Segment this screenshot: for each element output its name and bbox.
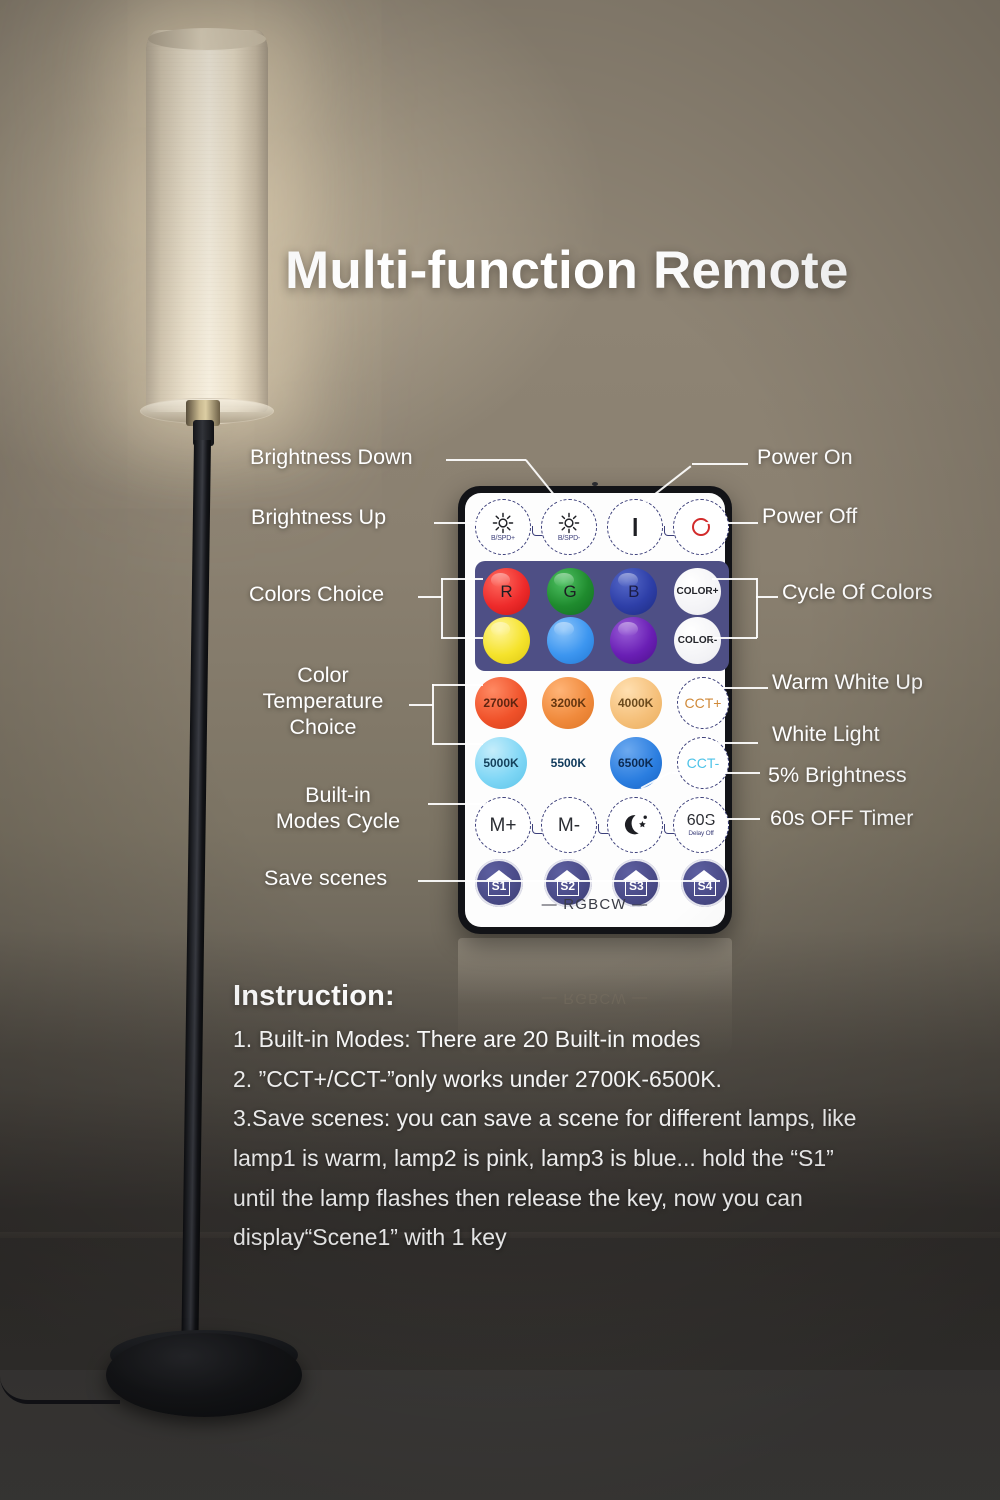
leader-colors-choice-bottom bbox=[441, 637, 483, 639]
remote-control: B/SPD+ B/SPD- bbox=[458, 486, 732, 934]
color-button-red[interactable]: R bbox=[483, 568, 530, 615]
callout-color-temperature-choice: Color Temperature Choice bbox=[238, 663, 408, 740]
leader-color-temp-stub bbox=[409, 704, 433, 706]
color-button-yellow[interactable] bbox=[483, 617, 530, 664]
night-mode-button[interactable] bbox=[607, 797, 663, 853]
color-minus-button[interactable]: COLOR- bbox=[674, 617, 721, 664]
remote-brand-label: — RGBCW — bbox=[465, 896, 725, 913]
brightness-down-sublabel: B/SPD- bbox=[558, 535, 580, 542]
cct-3200k-label: 3200K bbox=[551, 696, 586, 710]
leader-60s-timer bbox=[704, 818, 760, 820]
mode-minus-button[interactable]: M- bbox=[541, 797, 597, 853]
callout-builtin-line1: Built-in bbox=[258, 783, 418, 809]
sun-icon bbox=[558, 512, 580, 534]
callout-save-scenes: Save scenes bbox=[264, 866, 387, 891]
cct-minus-button[interactable]: CCT- bbox=[677, 737, 729, 789]
cct-4000k-button[interactable]: 4000K bbox=[610, 677, 662, 729]
callout-builtin-line2: Modes Cycle bbox=[258, 809, 418, 835]
leader-power-off bbox=[700, 522, 758, 524]
callout-5-percent-brightness: 5% Brightness bbox=[768, 763, 907, 788]
leader-5pct-brightness bbox=[672, 772, 760, 774]
gloss-highlight bbox=[554, 622, 574, 636]
power-on-button[interactable] bbox=[607, 499, 663, 555]
power-on-bar-icon bbox=[625, 514, 645, 540]
cct-plus-label: CCT+ bbox=[685, 695, 722, 711]
lamp-base bbox=[106, 1333, 302, 1417]
instruction-line-3: 3.Save scenes: you can save a scene for … bbox=[233, 1102, 993, 1135]
leader-cycle-colors-top bbox=[712, 578, 757, 580]
cct-5500k-label: 5500K bbox=[551, 756, 586, 770]
lamp-power-cord bbox=[0, 1376, 120, 1404]
cct-5000k-button[interactable]: 5000K bbox=[475, 737, 527, 789]
leader-save-scenes bbox=[418, 880, 720, 882]
leader-cycle-colors-bottom bbox=[712, 637, 757, 639]
callout-color-temp-line3: Choice bbox=[238, 715, 408, 741]
cct-6500k-label: 6500K bbox=[618, 756, 653, 770]
gloss-highlight bbox=[554, 573, 574, 587]
mode-minus-label: M- bbox=[558, 816, 580, 835]
callout-colors-choice: Colors Choice bbox=[249, 582, 384, 607]
mode-plus-button[interactable]: M+ bbox=[475, 797, 531, 853]
color-button-blue[interactable]: B bbox=[610, 568, 657, 615]
brightness-down-button[interactable]: B/SPD- bbox=[541, 499, 597, 555]
callout-cycle-of-colors: Cycle Of Colors bbox=[782, 580, 933, 605]
leader-brightness-down-h bbox=[446, 459, 526, 461]
cct-5500k-button[interactable]: 5500K bbox=[542, 737, 594, 789]
color-row-primary: R G B COLOR+ bbox=[483, 568, 721, 615]
instruction-block: Instruction: 1. Built-in Modes: There ar… bbox=[233, 980, 993, 1261]
callout-brightness-down: Brightness Down bbox=[250, 445, 413, 470]
callout-color-temp-line2: Temperature bbox=[238, 689, 408, 715]
lamp-pole bbox=[181, 440, 211, 1340]
power-off-circle-icon bbox=[689, 515, 713, 539]
color-choice-panel: R G B COLOR+ bbox=[475, 561, 729, 671]
color-plus-button[interactable]: COLOR+ bbox=[674, 568, 721, 615]
instruction-line-4: lamp1 is warm, lamp2 is pink, lamp3 is b… bbox=[233, 1142, 993, 1175]
gloss-highlight bbox=[618, 622, 638, 636]
instruction-line-6: display“Scene1” with 1 key bbox=[233, 1221, 993, 1254]
power-off-button[interactable] bbox=[673, 499, 729, 555]
page-title: Multi-function Remote bbox=[285, 240, 985, 301]
callout-brightness-up: Brightness Up bbox=[251, 505, 386, 530]
infographic-canvas: Multi-function Remote — RGBCW — bbox=[0, 0, 1000, 1500]
mode-row: M+ M- 60S Delay Off bbox=[475, 797, 729, 853]
sun-icon bbox=[492, 512, 514, 534]
callout-power-on: Power On bbox=[757, 445, 853, 470]
timer-60s-sublabel: Delay Off bbox=[688, 830, 713, 837]
leader-brightness-up bbox=[434, 522, 491, 524]
gloss-highlight bbox=[618, 573, 638, 587]
instruction-line-5: until the lamp flashes then release the … bbox=[233, 1182, 993, 1215]
leader-cycle-colors-stub bbox=[756, 596, 778, 598]
color-plus-label: COLOR+ bbox=[676, 586, 718, 597]
leader-color-temp-bottom bbox=[432, 743, 483, 745]
moon-star-icon bbox=[620, 812, 650, 838]
leader-colors-choice-top bbox=[441, 578, 483, 580]
instruction-line-2: 2. ”CCT+/CCT-”only works under 2700K-650… bbox=[233, 1063, 993, 1096]
lamp-shade-top-rim bbox=[148, 28, 266, 50]
leader-power-on-h bbox=[692, 463, 748, 465]
leader-colors-choice-bracket bbox=[441, 578, 443, 638]
callout-warm-white-up: Warm White Up bbox=[772, 670, 923, 695]
cct-5000k-label: 5000K bbox=[483, 756, 518, 770]
cct-minus-label: CCT- bbox=[687, 755, 720, 771]
power-row: B/SPD+ B/SPD- bbox=[475, 499, 729, 555]
color-button-lightblue[interactable] bbox=[547, 617, 594, 664]
leader-color-temp-bracket bbox=[432, 684, 434, 744]
leader-white-light bbox=[710, 742, 758, 744]
ir-emitter-icon bbox=[592, 482, 598, 486]
color-temperature-row-warm: 2700K 3200K 4000K CCT+ bbox=[475, 677, 729, 729]
cct-plus-button[interactable]: CCT+ bbox=[677, 677, 729, 729]
color-button-purple[interactable] bbox=[610, 617, 657, 664]
callout-power-off: Power Off bbox=[762, 504, 857, 529]
cct-3200k-button[interactable]: 3200K bbox=[542, 677, 594, 729]
color-button-green[interactable]: G bbox=[547, 568, 594, 615]
instruction-line-1: 1. Built-in Modes: There are 20 Built-in… bbox=[233, 1023, 993, 1056]
lamp-shade-texture bbox=[146, 30, 268, 412]
mode-plus-label: M+ bbox=[490, 816, 517, 835]
floor-lamp bbox=[0, 0, 330, 1500]
leader-warm-white-up bbox=[710, 687, 768, 689]
timer-60s-label: 60S bbox=[687, 813, 715, 829]
timer-60s-button[interactable]: 60S Delay Off bbox=[673, 797, 729, 853]
color-temperature-row-cool: 5000K 5500K 6500K CCT- bbox=[475, 737, 729, 789]
cct-4000k-label: 4000K bbox=[618, 696, 653, 710]
callout-color-temp-line1: Color bbox=[238, 663, 408, 689]
cct-2700k-label: 2700K bbox=[483, 696, 518, 710]
leader-cycle-colors-bracket bbox=[756, 578, 758, 638]
brightness-up-sublabel: B/SPD+ bbox=[491, 535, 515, 542]
color-row-secondary: COLOR- bbox=[483, 617, 721, 664]
leader-color-temp-top bbox=[432, 684, 483, 686]
leader-builtin-modes bbox=[428, 803, 512, 805]
callout-white-light: White Light bbox=[772, 722, 880, 747]
remote-faceplate: B/SPD+ B/SPD- bbox=[465, 493, 725, 927]
gloss-highlight bbox=[491, 573, 511, 587]
leader-colors-choice-stub bbox=[418, 596, 442, 598]
gloss-highlight bbox=[491, 622, 511, 636]
brightness-up-button[interactable]: B/SPD+ bbox=[475, 499, 531, 555]
callout-built-in-modes-cycle: Built-in Modes Cycle bbox=[258, 783, 418, 835]
instruction-title: Instruction: bbox=[233, 980, 993, 1013]
callout-60s-off-timer: 60s OFF Timer bbox=[770, 806, 913, 831]
